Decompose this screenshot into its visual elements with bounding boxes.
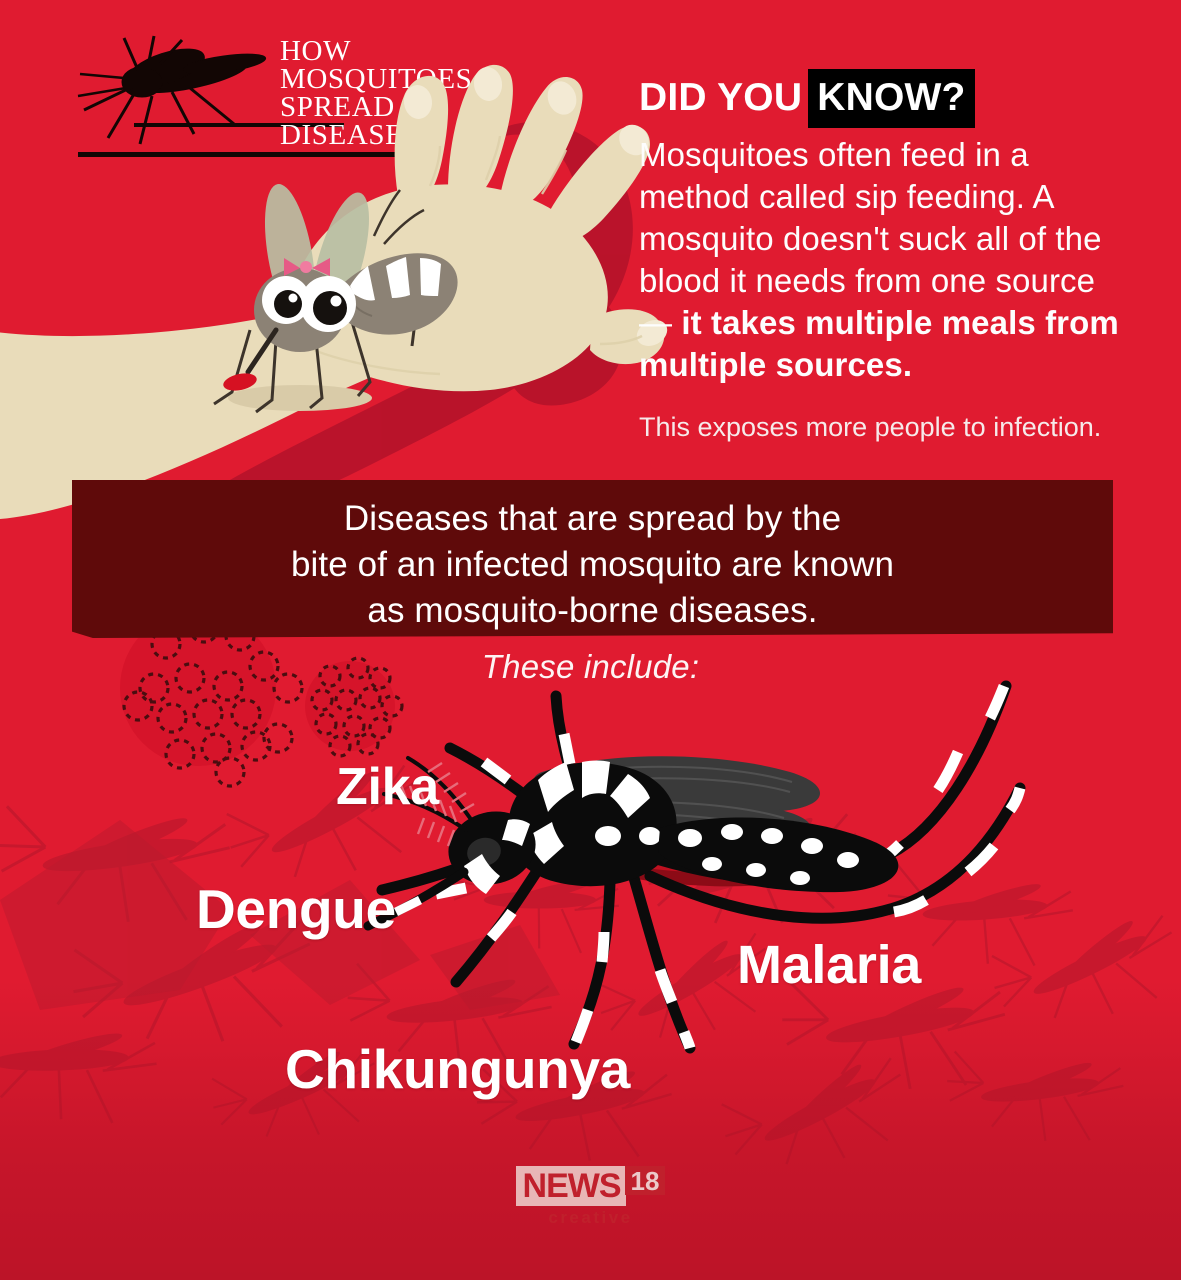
banner-line-2: bite of an infected mosquito are known bbox=[72, 542, 1113, 588]
news18-creative-logo[interactable]: NEWS 18 creative bbox=[0, 1166, 1181, 1236]
disease-label-dengue: Dengue bbox=[196, 877, 396, 941]
disease-label-chikungunya: Chikungunya bbox=[285, 1037, 630, 1101]
banner-line-1: Diseases that are spread by the bbox=[72, 496, 1113, 542]
heading-boxed-part: KNOW? bbox=[808, 69, 974, 128]
banner-text: Diseases that are spread by the bite of … bbox=[72, 496, 1113, 634]
news18-number-badge: 18 bbox=[625, 1166, 666, 1195]
disease-label-zika: Zika bbox=[336, 757, 439, 817]
disease-label-malaria: Malaria bbox=[737, 934, 921, 996]
heading-plain-part: DID YOU bbox=[639, 76, 802, 119]
hand-and-cartoon-mosquito-illustration bbox=[0, 0, 700, 560]
did-you-know-heading: DID YOUKNOW? bbox=[639, 72, 1119, 128]
body-bold-text: it takes multiple meals from multiple so… bbox=[639, 304, 1119, 383]
news18-creative-tagline: creative bbox=[0, 1208, 1181, 1228]
banner-line-3: as mosquito-borne diseases. bbox=[72, 588, 1113, 634]
did-you-know-subtext: This exposes more people to infection. bbox=[639, 410, 1119, 445]
news18-news-text: NEWS bbox=[516, 1166, 626, 1206]
did-you-know-block: DID YOUKNOW? Mosquitoes often feed in a … bbox=[639, 72, 1119, 445]
mosquito-borne-definition-banner: Diseases that are spread by the bite of … bbox=[72, 480, 1113, 638]
infographic-poster: HOW MOSQUITOES SPREAD DISEASE bbox=[0, 0, 1181, 1280]
news18-wordmark: NEWS 18 bbox=[516, 1166, 666, 1206]
did-you-know-body: Mosquitoes often feed in a method called… bbox=[639, 134, 1119, 386]
